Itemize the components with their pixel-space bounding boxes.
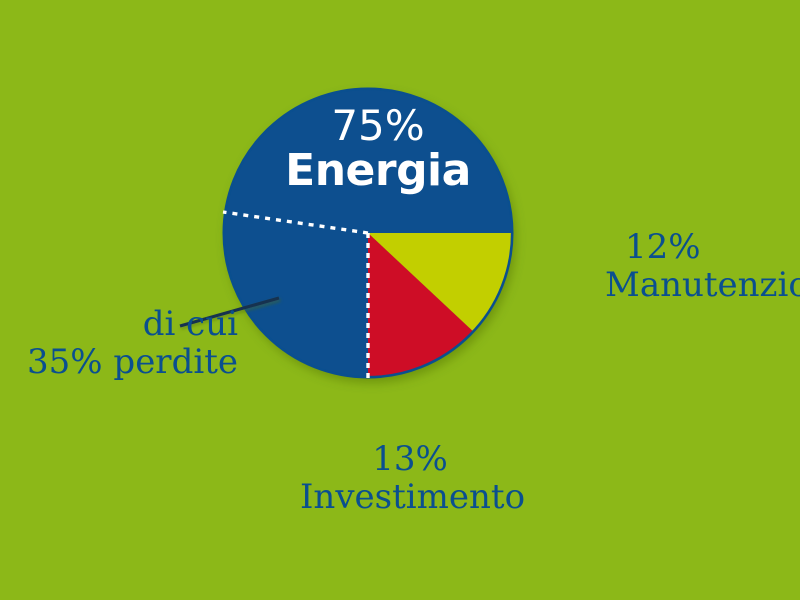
pie-label-investimento-name: Investimento [300,478,520,516]
pie-label-energia: 75% Energia [258,104,498,193]
pie-annotation-perdite: di cui 35% perdite [0,305,238,381]
pie-label-manutenzione-percent: 12% [625,228,800,266]
pie-label-energia-name: Energia [258,148,498,194]
pie-label-energia-percent: 75% [258,104,498,148]
pie-label-manutenzione-name: Manutenzione [605,266,800,304]
pie-chart-figure: 75% Energia 12% Manutenzione 13% Investi… [0,0,800,600]
pie-label-manutenzione: 12% Manutenzione [605,228,800,304]
pie-label-investimento: 13% Investimento [300,440,520,516]
pie-annotation-perdite-line2: 35% perdite [0,343,238,381]
pie-annotation-perdite-line1: di cui [0,305,238,343]
pie-label-investimento-percent: 13% [300,440,520,478]
